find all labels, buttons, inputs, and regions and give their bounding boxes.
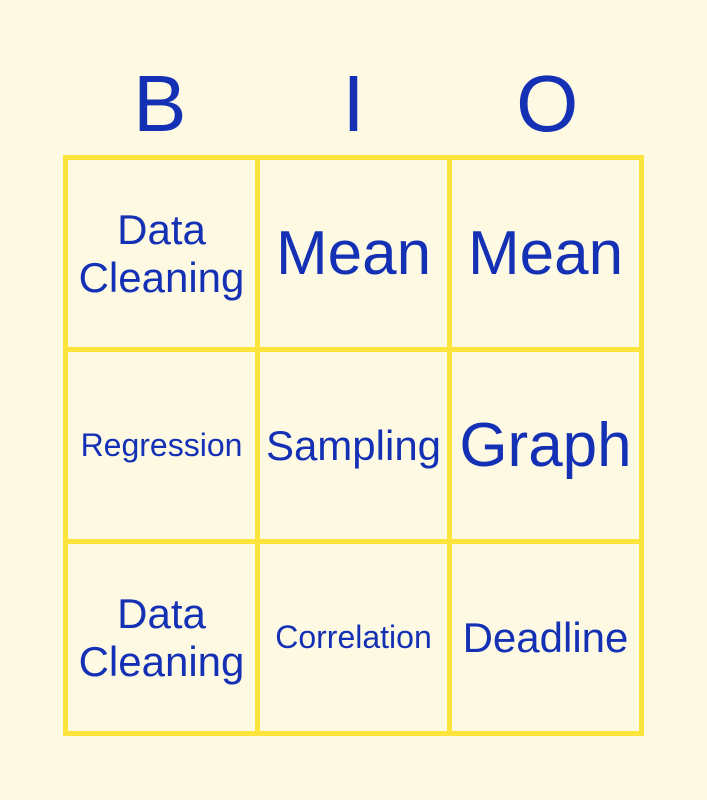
bingo-header-letter-2: O	[450, 58, 644, 150]
bingo-header-letter-text: O	[516, 64, 578, 144]
bingo-cell[interactable]: Data Cleaning	[68, 160, 255, 347]
bingo-cell[interactable]: Mean	[260, 160, 447, 347]
bingo-cell-label: Sampling	[266, 422, 441, 469]
bingo-cell[interactable]: Correlation	[260, 544, 447, 731]
bingo-cell[interactable]: Sampling	[260, 352, 447, 539]
bingo-cell-label: Data Cleaning	[79, 206, 245, 300]
bingo-grid: Data Cleaning Mean Mean Regression Sampl…	[63, 155, 644, 736]
bingo-cell[interactable]: Data Cleaning	[68, 544, 255, 731]
bingo-cell-label: Deadline	[463, 614, 629, 661]
bingo-cell-label: Mean	[276, 219, 431, 288]
bingo-header-letter-0: B	[63, 58, 257, 150]
bingo-cell[interactable]: Deadline	[452, 544, 639, 731]
bingo-card: B I O Data Cleaning Mean Mean Regression…	[0, 0, 707, 800]
bingo-cell[interactable]: Mean	[452, 160, 639, 347]
bingo-header-letter-text: B	[133, 64, 186, 144]
bingo-cell[interactable]: Graph	[452, 352, 639, 539]
bingo-cell-label: Regression	[81, 428, 243, 464]
bingo-cell-label: Data Cleaning	[79, 590, 245, 684]
bingo-header-row: B I O	[63, 58, 644, 150]
bingo-header-letter-text: I	[342, 64, 364, 144]
bingo-cell-label: Graph	[459, 411, 631, 480]
bingo-cell-label: Correlation	[275, 620, 432, 656]
bingo-cell-label: Mean	[468, 219, 623, 288]
bingo-cell[interactable]: Regression	[68, 352, 255, 539]
bingo-header-letter-1: I	[257, 58, 451, 150]
